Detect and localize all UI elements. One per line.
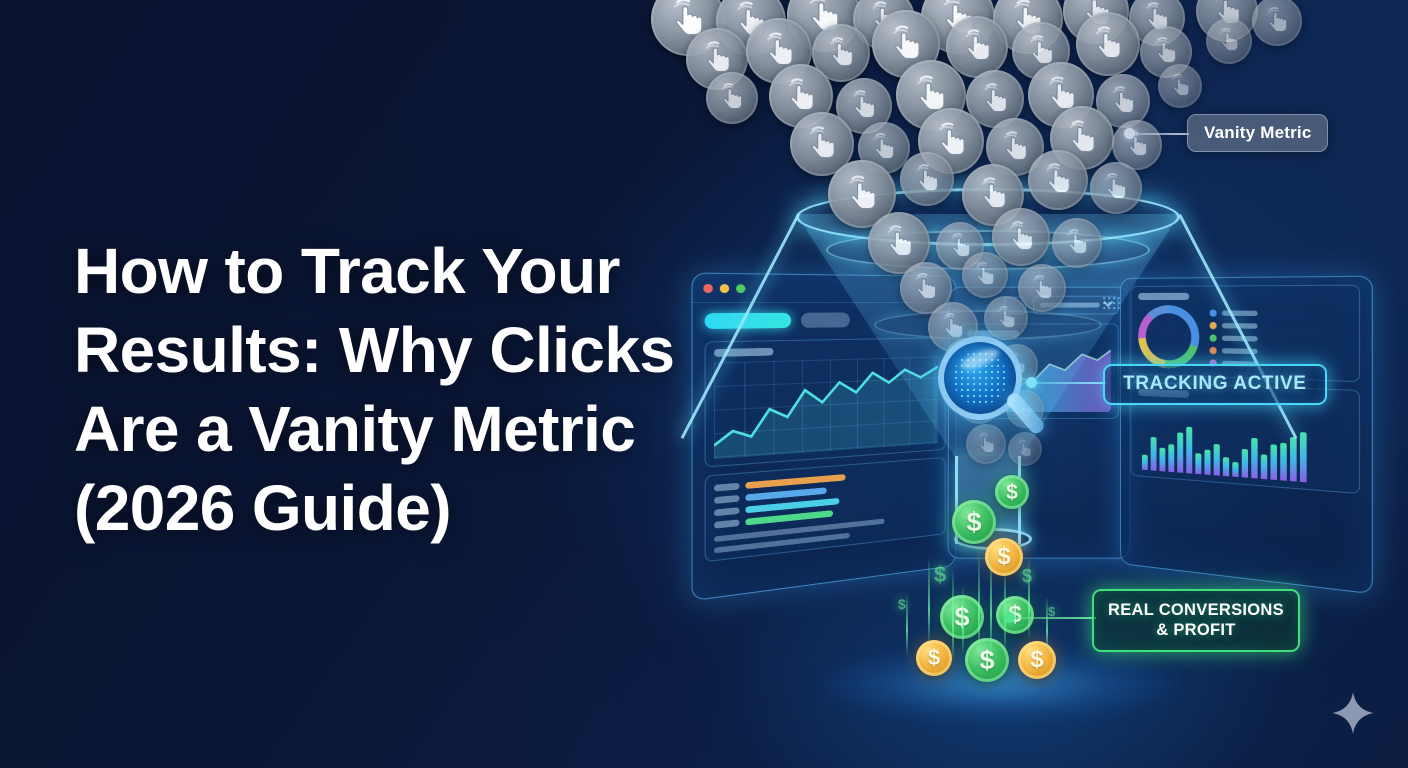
page-title-line: Are a Vanity Metric: [74, 390, 694, 469]
click-cursor-coin: [946, 16, 1008, 78]
click-cursor-coin: [962, 252, 1008, 298]
dollar-glyph-ghost: $: [898, 596, 906, 612]
click-cursor-coin: [984, 296, 1028, 340]
callout-line-vanity: [1133, 133, 1189, 135]
click-cursor-coin: [1052, 218, 1102, 268]
light-streak: [906, 592, 908, 656]
light-streak: [962, 584, 964, 654]
light-streak: [928, 556, 930, 646]
page-title: How to Track YourResults: Why ClicksAre …: [74, 232, 694, 548]
sparkle-star-svg: [1330, 690, 1376, 736]
dollar-glyph-ghost: $: [1022, 566, 1032, 587]
light-streak: [1004, 564, 1006, 652]
callout-line-profit: [1012, 617, 1096, 619]
window-maximize-dot[interactable]: [736, 284, 745, 293]
callout-line-tracking: [1036, 382, 1106, 384]
light-streak: [978, 552, 980, 656]
dollar-coin: $: [1018, 641, 1056, 679]
click-cursor-coin: [900, 152, 954, 206]
click-cursor-coin: [1028, 150, 1088, 210]
click-cursor-coin: [1090, 162, 1142, 214]
magnifying-glass: [938, 336, 1058, 452]
label-profit-line2: & PROFIT: [1156, 621, 1235, 639]
click-cursor-coin: [1252, 0, 1302, 46]
window-minimize-dot[interactable]: [720, 283, 729, 292]
click-cursor-coin: [706, 72, 758, 124]
light-streak: [990, 548, 992, 658]
magnifier-handle: [1004, 390, 1047, 436]
page-title-line: Results: Why Clicks: [74, 311, 694, 390]
click-cursor-coin: [1076, 12, 1140, 76]
click-cursor-coin: [1018, 264, 1066, 312]
label-vanity-metric[interactable]: Vanity Metric: [1187, 114, 1328, 152]
dollar-coin: $: [995, 475, 1029, 509]
dollar-coin: $: [952, 500, 996, 544]
light-streak: [952, 566, 954, 662]
light-streak: [1046, 596, 1048, 654]
legend-item: [1210, 334, 1258, 342]
label-profit-line1: REAL CONVERSIONS: [1108, 601, 1284, 619]
page-title-line: (2026 Guide): [74, 469, 694, 548]
click-cursor-coin: [1206, 18, 1252, 64]
sparkle-star-icon: [1330, 690, 1376, 736]
dollar-coin: $: [916, 640, 952, 676]
click-cursor-coin: [1158, 64, 1202, 108]
label-tracking-active[interactable]: TRACKING ACTIVE: [1103, 364, 1327, 405]
magnifier-lens: [938, 336, 1022, 420]
window-close-dot[interactable]: [703, 283, 712, 292]
dollar-coin: $: [965, 638, 1009, 682]
page-title-line: How to Track Your: [74, 232, 694, 311]
light-streak: [1028, 558, 1030, 640]
dollar-glyph-ghost: $: [934, 562, 946, 588]
hero-banner: $$$$$$$$$$$$ Vanity Metric TRACKING ACTI…: [0, 0, 1408, 768]
label-real-conversions-profit[interactable]: REAL CONVERSIONS & PROFIT: [1092, 589, 1300, 652]
